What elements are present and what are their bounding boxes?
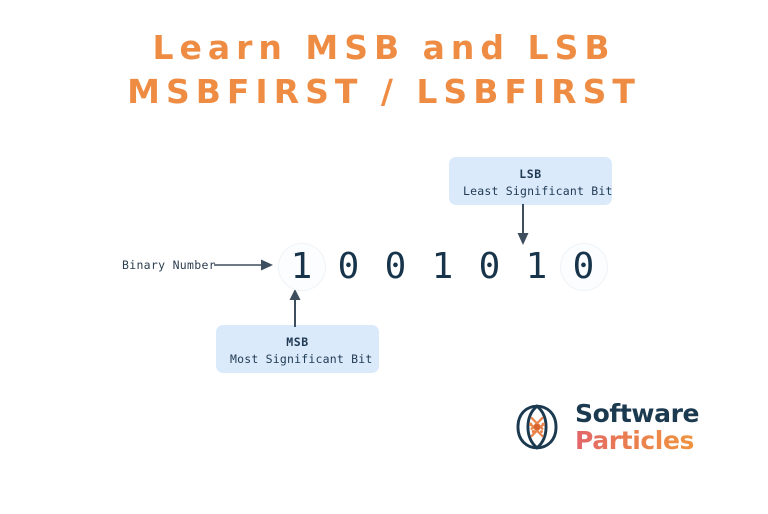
binary-number-row: 1 0 0 1 0 1 0 bbox=[278, 240, 607, 294]
logo-word-particles: Particles bbox=[575, 428, 699, 453]
binary-bit-value: 1 bbox=[291, 249, 313, 285]
lsb-callout-subtitle: Least Significant Bit bbox=[463, 183, 598, 200]
binary-bit-value: 0 bbox=[479, 249, 501, 285]
lsb-callout-title: LSB bbox=[463, 166, 598, 183]
binary-bit-value: 0 bbox=[573, 249, 595, 285]
msb-pointer-arrow-icon bbox=[288, 289, 302, 327]
title-line-1: Learn MSB and LSB bbox=[0, 26, 768, 70]
msb-callout-title: MSB bbox=[230, 334, 365, 351]
binary-bit-value: 1 bbox=[526, 249, 548, 285]
binary-bit-lsb: 0 bbox=[560, 240, 607, 294]
binary-label-arrow-icon bbox=[214, 258, 274, 272]
binary-bit-3: 1 bbox=[419, 240, 466, 294]
msb-callout-box: MSB Most Significant Bit bbox=[216, 325, 379, 373]
logo-word-software: Software bbox=[575, 401, 699, 426]
binary-number-label: Binary Number bbox=[122, 258, 216, 272]
lsb-callout-box: LSB Least Significant Bit bbox=[449, 157, 612, 205]
binary-bit-value: 0 bbox=[338, 249, 360, 285]
binary-bit-4: 0 bbox=[466, 240, 513, 294]
binary-bit-5: 1 bbox=[513, 240, 560, 294]
atom-particle-icon bbox=[508, 398, 566, 456]
brand-logo: Software Particles bbox=[508, 398, 699, 456]
logo-wordmark: Software Particles bbox=[575, 401, 699, 453]
slide-canvas: Learn MSB and LSB MSBFIRST / LSBFIRST LS… bbox=[0, 0, 768, 514]
binary-bit-value: 1 bbox=[432, 249, 454, 285]
title-line-2: MSBFIRST / LSBFIRST bbox=[0, 70, 768, 114]
binary-bit-2: 0 bbox=[372, 240, 419, 294]
binary-bit-1: 0 bbox=[325, 240, 372, 294]
msb-callout-subtitle: Most Significant Bit bbox=[230, 351, 365, 368]
binary-bit-msb: 1 bbox=[278, 240, 325, 294]
binary-bit-value: 0 bbox=[385, 249, 407, 285]
page-title: Learn MSB and LSB MSBFIRST / LSBFIRST bbox=[0, 26, 768, 113]
